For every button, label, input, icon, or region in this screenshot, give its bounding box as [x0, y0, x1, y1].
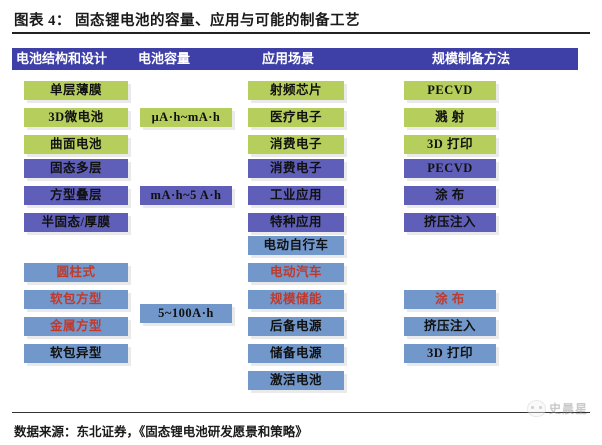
watermark: 史晨星	[527, 400, 588, 417]
column-header-method: 规模制备方法	[432, 50, 510, 68]
cell-application-1-1: 工业应用	[248, 186, 344, 205]
cell-method-2-1: 挤压注入	[404, 317, 496, 336]
cat-face-icon	[527, 400, 546, 417]
title-divider	[12, 32, 590, 34]
cell-application-2-3: 后备电源	[248, 317, 344, 336]
cell-application-2-4: 储备电源	[248, 344, 344, 363]
cell-structure-2-0: 圆柱式	[24, 263, 128, 282]
page-title: 图表 4： 固态锂电池的容量、应用与可能的制备工艺	[14, 9, 360, 30]
cell-method-2-2: 3D 打印	[404, 344, 496, 363]
cell-method-0-0: PECVD	[404, 81, 496, 100]
column-header-capacity: 电池容量	[138, 50, 190, 68]
footer-divider	[12, 412, 590, 413]
cell-application-0-2: 消费电子	[248, 135, 344, 154]
cell-method-0-1: 溅 射	[404, 108, 496, 127]
cell-application-1-0: 消费电子	[248, 159, 344, 178]
cell-application-0-1: 医疗电子	[248, 108, 344, 127]
watermark-label: 史晨星	[549, 400, 588, 417]
cell-method-0-2: 3D 打印	[404, 135, 496, 154]
cell-structure-1-1: 方型叠层	[24, 186, 128, 205]
cell-structure-1-0: 固态多层	[24, 159, 128, 178]
column-header-structure: 电池结构和设计	[16, 50, 107, 68]
cell-application-2-1: 电动汽车	[248, 263, 344, 282]
cell-application-0-0: 射频芯片	[248, 81, 344, 100]
cell-structure-1-2: 半固态/厚膜	[24, 213, 128, 232]
figure-table: 电池结构和设计 电池容量 应用场景 规模制备方法 单层薄膜3D微电池曲面电池射频…	[12, 48, 590, 403]
cell-method-1-1: 涂 布	[404, 186, 496, 205]
column-header-application: 应用场景	[262, 50, 314, 68]
cell-application-2-2: 规模储能	[248, 290, 344, 309]
cell-application-2-5: 激活电池	[248, 371, 344, 390]
cell-capacity-1: mA·h~5 A·h	[140, 186, 232, 205]
cell-structure-2-1: 软包方型	[24, 290, 128, 309]
cell-method-1-2: 挤压注入	[404, 213, 496, 232]
cell-capacity-0: μA·h~mA·h	[140, 108, 232, 127]
cell-capacity-2: 5~100A·h	[140, 304, 232, 323]
cell-structure-0-2: 曲面电池	[24, 135, 128, 154]
cell-application-1-2: 特种应用	[248, 213, 344, 232]
source-note: 数据来源：东北证券，《固态锂电池研发愿景和策略》	[14, 421, 308, 440]
cell-structure-2-3: 软包异型	[24, 344, 128, 363]
cell-structure-2-2: 金属方型	[24, 317, 128, 336]
cell-method-2-0: 涂 布	[404, 290, 496, 309]
cell-application-2-0: 电动自行车	[248, 236, 344, 255]
cell-structure-0-0: 单层薄膜	[24, 81, 128, 100]
cell-method-1-0: PECVD	[404, 159, 496, 178]
cell-structure-0-1: 3D微电池	[24, 108, 128, 127]
